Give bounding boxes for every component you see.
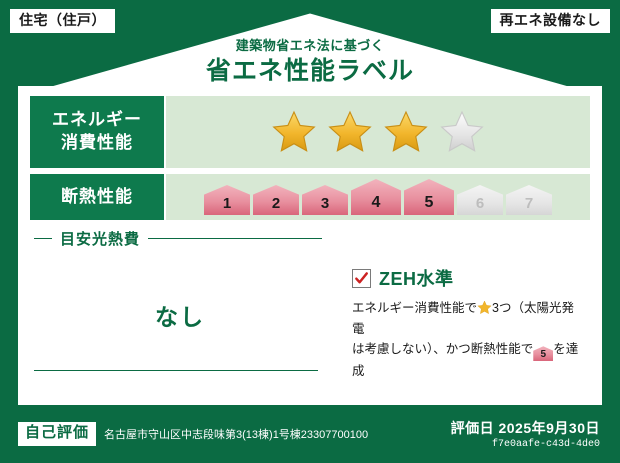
insulation-chip-inline: 5 (533, 346, 553, 361)
insulation-grade-scale: 1 2 3 4 5 6 7 (204, 179, 552, 215)
building-type-tag: 住宅（住戸） (10, 9, 115, 33)
heading-rule-right (148, 238, 322, 239)
zeh-checkbox[interactable] (352, 269, 371, 288)
check-icon (354, 271, 369, 286)
insulation-chip-5: 5 (404, 179, 454, 215)
star-filled-icon (327, 109, 373, 155)
insulation-performance-row: 断熱性能 1 2 3 4 5 6 7 (30, 174, 590, 220)
insulation-chip-4: 4 (351, 179, 401, 215)
energy-performance-label: エネルギー 消費性能 (30, 96, 164, 168)
insulation-performance-label: 断熱性能 (30, 174, 164, 220)
energy-label-line-1: エネルギー (52, 109, 142, 132)
star-filled-icon (383, 109, 429, 155)
zeh-panel: ZEH水準 エネルギー消費性能で3つ（太陽光発電 は考慮しない）、かつ断熱性能で… (330, 251, 590, 379)
insulation-chip-3: 3 (302, 185, 348, 215)
zeh-desc-part-2: は考慮しない）、かつ断熱性能で (352, 342, 533, 356)
energy-performance-value (166, 96, 590, 168)
self-evaluation-badge: 自己評価 (18, 422, 96, 446)
utility-cost-underline (34, 370, 318, 371)
insulation-chip-2: 2 (253, 185, 299, 215)
insulation-performance-value: 1 2 3 4 5 6 7 (166, 174, 590, 220)
label-title: 省エネ性能ラベル (0, 56, 620, 87)
energy-performance-row: エネルギー 消費性能 (30, 96, 590, 168)
zeh-desc-part-1: エネルギー消費性能で (352, 301, 477, 315)
utility-cost-heading: 目安光熱費 (30, 228, 326, 249)
insulation-chip-7: 7 (506, 185, 552, 215)
document-id: f7e0aafe-c43d-4de0 (451, 439, 600, 450)
zeh-title: ZEH水準 (379, 265, 454, 291)
evaluation-date: 評価日 2025年9月30日 (451, 418, 600, 438)
utility-cost-panel: なし (30, 251, 330, 379)
label-subtitle: 建築物省エネ法に基づく (0, 38, 620, 54)
utility-cost-title: 目安光熱費 (60, 228, 140, 249)
insulation-chip-6: 6 (457, 185, 503, 215)
lower-section: なし ZEH水準 エネルギー消費性能で3つ（太陽光発電 は考慮しない）、かつ断熱… (30, 251, 590, 379)
star-empty-icon (439, 109, 485, 155)
zeh-heading: ZEH水準 (352, 265, 584, 291)
utility-cost-value: なし (155, 298, 205, 332)
footer-meta: 評価日 2025年9月30日 f7e0aafe-c43d-4de0 (451, 418, 602, 450)
star-rating (271, 109, 485, 155)
zeh-description: エネルギー消費性能で3つ（太陽光発電 は考慮しない）、かつ断熱性能で5を達成 (352, 298, 584, 382)
star-filled-icon (271, 109, 317, 155)
insulation-chip-1: 1 (204, 185, 250, 215)
heading-rule-left (34, 238, 52, 239)
star-inline-icon (477, 300, 492, 315)
energy-label-line-2: 消費性能 (61, 132, 133, 155)
label-header: 建築物省エネ法に基づく 省エネ性能ラベル (0, 38, 620, 87)
renewable-energy-tag: 再エネ設備なし (491, 9, 611, 33)
label-main-card: エネルギー 消費性能 (18, 86, 602, 405)
label-footer: 自己評価 名古屋市守山区中志段味第3(13棟)1号棟23307700100 評価… (18, 413, 602, 455)
property-address: 名古屋市守山区中志段味第3(13棟)1号棟23307700100 (104, 426, 368, 442)
energy-performance-label: 住宅（住戸） 再エネ設備なし 建築物省エネ法に基づく 省エネ性能ラベル エネルギ… (0, 0, 620, 463)
